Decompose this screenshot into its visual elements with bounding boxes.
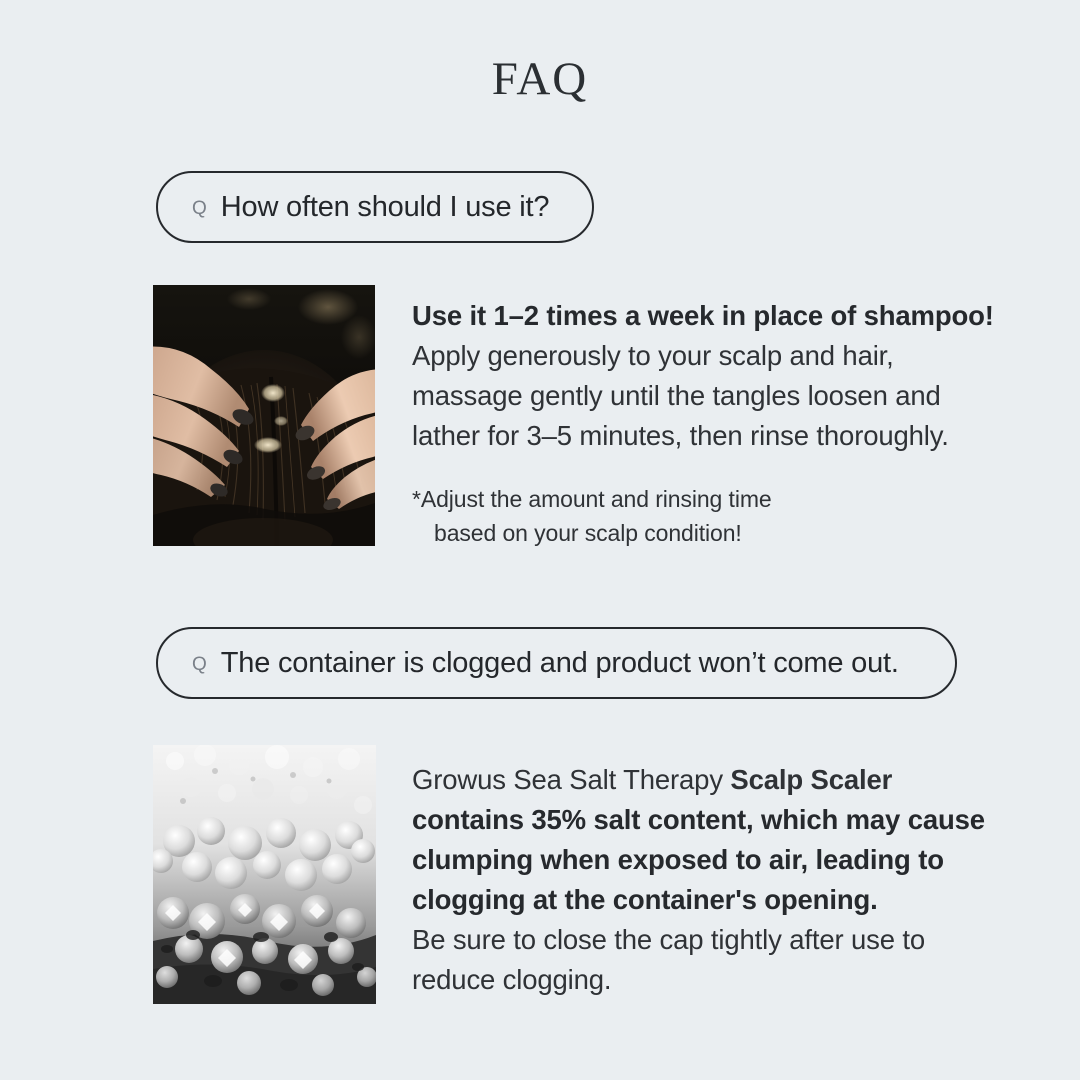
faq-question-text-2: The container is clogged and product won… [221, 649, 899, 678]
note-line: based on your scalp condition! [412, 516, 1012, 550]
answer-line: contains 35% salt content, which may cau… [412, 800, 1012, 840]
question-marker-icon: Q [192, 655, 207, 674]
answer-line: reduce clogging. [412, 960, 1012, 1000]
faq-answer-1: Use it 1–2 times a week in place of sham… [412, 296, 1012, 550]
faq-answer-2: Growus Sea Salt Therapy Scalp Scaler con… [412, 760, 1012, 1000]
answer-line: massage gently until the tangles loosen … [412, 376, 1012, 416]
answer-line: Apply generously to your scalp and hair, [412, 336, 1012, 376]
answer-line: lather for 3–5 minutes, then rinse thoro… [412, 416, 1012, 456]
answer-line: Use it 1–2 times a week in place of sham… [412, 296, 1012, 336]
question-marker-icon: Q [192, 199, 207, 218]
sea-salt-crystals-photo [153, 745, 376, 1004]
answer-span: Growus Sea Salt Therapy [412, 764, 730, 795]
answer-span-bold: Scalp Scaler [730, 764, 892, 795]
sea-salt-illustration [153, 745, 376, 1004]
faq-question-pill-1[interactable]: Q How often should I use it? [156, 171, 594, 243]
scalp-massage-illustration [153, 285, 375, 546]
page-title: FAQ [0, 52, 1080, 106]
note-line: *Adjust the amount and rinsing time [412, 482, 1012, 516]
faq-question-pill-2[interactable]: Q The container is clogged and product w… [156, 627, 957, 699]
answer-line: Growus Sea Salt Therapy Scalp Scaler [412, 760, 1012, 800]
answer-line: clogging at the container's opening. [412, 880, 1012, 920]
faq-answer-note-1: *Adjust the amount and rinsing time base… [412, 482, 1012, 550]
answer-line: Be sure to close the cap tightly after u… [412, 920, 1012, 960]
answer-line: clumping when exposed to air, leading to [412, 840, 1012, 880]
faq-question-text-1: How often should I use it? [221, 193, 550, 222]
scalp-massage-photo [153, 285, 375, 546]
